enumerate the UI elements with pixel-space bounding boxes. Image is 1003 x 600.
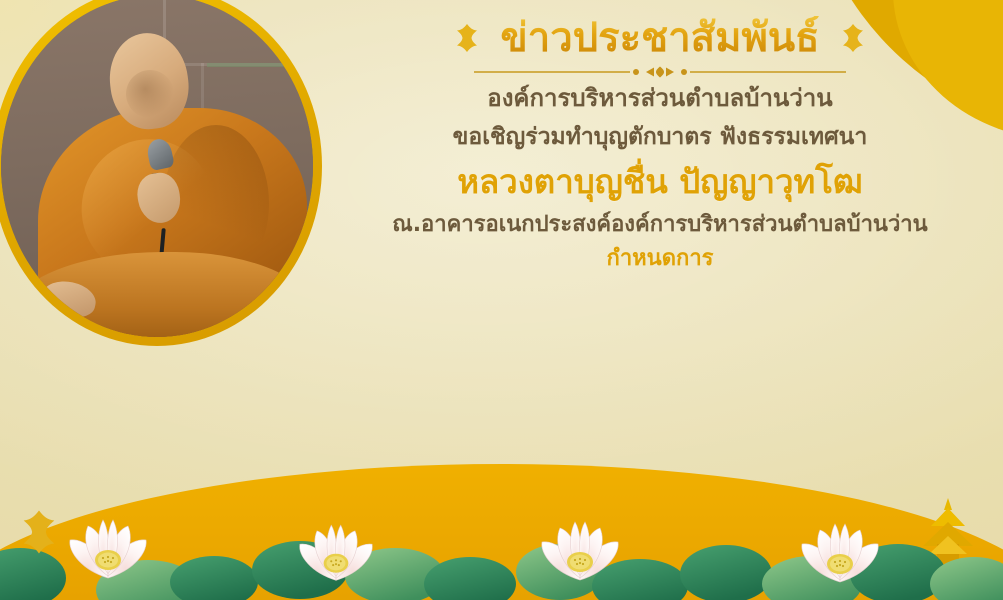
photo-wall-seam-v2 <box>201 63 204 111</box>
photo-image <box>1 0 313 337</box>
header: ข่าวประชาสัมพันธ์ องค์การบริหารส่วนตำบลบ… <box>330 16 990 273</box>
poster-root: ข่าวประชาสัมพันธ์ องค์การบริหารส่วนตำบลบ… <box>0 0 1003 600</box>
monk-portrait <box>0 0 322 346</box>
title-row: ข่าวประชาสัมพันธ์ <box>330 16 990 61</box>
quatrefoil-icon <box>16 509 62 555</box>
monk-name: หลวงตาบุญชื่น ปัญญาวุทโฒ <box>330 161 990 202</box>
photo-green-strip <box>207 63 313 67</box>
photo-face-shading <box>126 70 174 118</box>
page-title: ข่าวประชาสัมพันธ์ <box>500 16 819 61</box>
invitation-line: ขอเชิญร่วมทำบุญตักบาตร ฟังธรรมเทศนา <box>330 123 990 153</box>
venue-line: ณ.อาคารอเนกประสงค์องค์การบริหารส่วนตำบลบ… <box>330 211 990 240</box>
ornamental-rule-icon <box>470 65 850 79</box>
quatrefoil-icon <box>838 23 868 53</box>
quatrefoil-icon <box>452 23 482 53</box>
organization-name: องค์การบริหารส่วนตำบลบ้านว่าน <box>330 83 990 114</box>
agenda-label: กำหนดการ <box>330 245 990 274</box>
lotus-decoration-row <box>0 470 1003 600</box>
